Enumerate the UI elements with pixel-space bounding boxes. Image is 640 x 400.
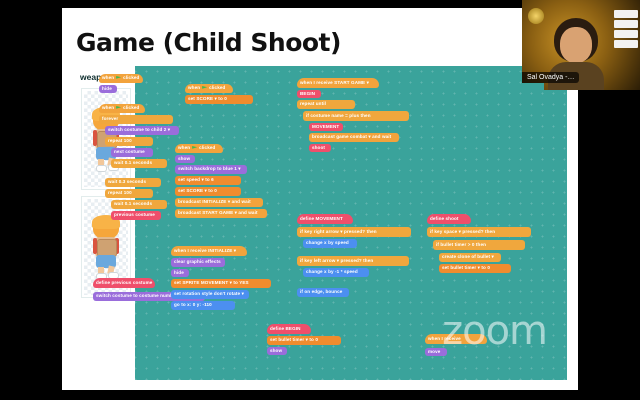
green-flag-icon <box>202 86 207 91</box>
scratch-block[interactable]: if key space ▾ pressed? then <box>427 227 531 237</box>
scratch-block[interactable]: set SPRITE MOVEMENT ▾ to YES <box>171 279 271 288</box>
scratch-block[interactable]: when I receive INITIALIZE ▾ <box>171 246 247 256</box>
scratch-block[interactable]: wait 0.3 seconds <box>105 178 161 187</box>
scratch-block[interactable]: previous costume <box>111 211 161 220</box>
scratch-block[interactable]: if on edge, bounce <box>297 288 349 297</box>
scratch-block[interactable]: broadcast game combat ▾ and wait <box>309 133 399 142</box>
sponsor-logos <box>614 10 638 48</box>
scratch-block[interactable]: whenclicked <box>185 84 233 93</box>
scratch-block[interactable]: repeat 100 <box>105 189 153 198</box>
scratch-block[interactable]: go to x: 0 y: -110 <box>171 301 235 310</box>
presentation-slide: Game (Child Shoot) weapon <box>62 8 578 390</box>
scratch-block[interactable]: when I receive START GAME ▾ <box>297 78 379 88</box>
scratch-block[interactable]: change x by speed <box>303 239 357 248</box>
scratch-block[interactable]: set SCORE ▾ to 0 <box>185 95 253 104</box>
scratch-block[interactable]: show <box>175 155 195 163</box>
participant-name-label: Sal Ovadya -… <box>522 72 579 83</box>
scratch-block[interactable]: broadcast INITIALIZE ▾ and wait <box>175 198 263 207</box>
scratch-block[interactable]: MOVEMENT <box>309 123 343 131</box>
scratch-block[interactable]: create clone of bullet ▾ <box>439 253 501 262</box>
scratch-block[interactable]: repeat 100 <box>105 137 153 146</box>
green-flag-icon <box>116 76 121 81</box>
award-badge-icon <box>528 8 544 24</box>
scratch-block[interactable]: if costume name = plus then <box>303 111 409 121</box>
zoom-screen-share: Game (Child Shoot) weapon <box>0 0 640 400</box>
scratch-block[interactable]: set speed ▾ to 6 <box>175 176 241 185</box>
green-flag-icon <box>116 106 121 111</box>
scratch-block[interactable]: if bullet timer > 0 then <box>433 240 525 250</box>
scratch-code-canvas[interactable]: weapon <box>75 66 567 380</box>
scratch-block[interactable]: repeat until <box>297 100 355 109</box>
scratch-block[interactable]: if key left arrow ▾ pressed? then <box>297 256 409 266</box>
sprite-costume-panel: weapon <box>75 66 135 380</box>
scratch-block[interactable]: clear graphic effects <box>171 258 225 267</box>
scratch-block[interactable]: define previous costume <box>93 278 155 288</box>
green-flag-icon <box>192 146 197 151</box>
scratch-block[interactable]: switch costume to child 2 ▾ <box>105 126 179 135</box>
page-title: Game (Child Shoot) <box>76 28 341 57</box>
scratch-block[interactable]: define BEGIN <box>267 324 311 334</box>
scratch-block[interactable]: forever <box>99 115 173 124</box>
scratch-block[interactable]: shoot <box>309 144 331 152</box>
scratch-block[interactable]: define shoot <box>427 214 471 224</box>
scratch-block[interactable]: hide <box>99 85 117 93</box>
scratch-block[interactable]: show <box>267 347 287 355</box>
scratch-block[interactable]: BEGIN <box>297 90 321 98</box>
scratch-block[interactable]: set SCORE ▾ to 0 <box>175 187 241 196</box>
scratch-block[interactable]: if key right arrow ▾ pressed? then <box>297 227 411 237</box>
scratch-block[interactable]: next costume <box>111 148 153 157</box>
scratch-block[interactable]: set bullet timer ▾ to 0 <box>439 264 511 273</box>
participant-video-tile[interactable]: Sal Ovadya -… <box>522 0 640 90</box>
scratch-block[interactable]: wait 0.1 seconds <box>111 159 167 168</box>
scratch-block[interactable]: whenclicked <box>99 74 143 83</box>
scratch-block[interactable]: change x by -1 * speed <box>303 268 369 277</box>
scratch-block[interactable]: switch backdrop to blue 1 ▾ <box>175 165 247 174</box>
scratch-block[interactable]: set rotation style don't rotate ▾ <box>171 290 249 299</box>
scratch-block[interactable]: wait 0.1 seconds <box>111 200 167 209</box>
scratch-block[interactable]: set bullet timer ▾ to 0 <box>267 336 341 345</box>
scratch-block[interactable]: broadcast START GAME ▾ and wait <box>175 209 267 218</box>
scratch-block[interactable]: whenclicked <box>99 104 145 113</box>
video-tile-corner <box>522 83 544 90</box>
zoom-watermark: zoom <box>442 308 547 354</box>
child-sprite-icon-2 <box>89 216 123 278</box>
scratch-block[interactable]: define MOVEMENT <box>297 214 353 224</box>
scratch-block[interactable]: whenclicked <box>175 144 223 153</box>
scratch-block[interactable]: hide <box>171 269 189 277</box>
